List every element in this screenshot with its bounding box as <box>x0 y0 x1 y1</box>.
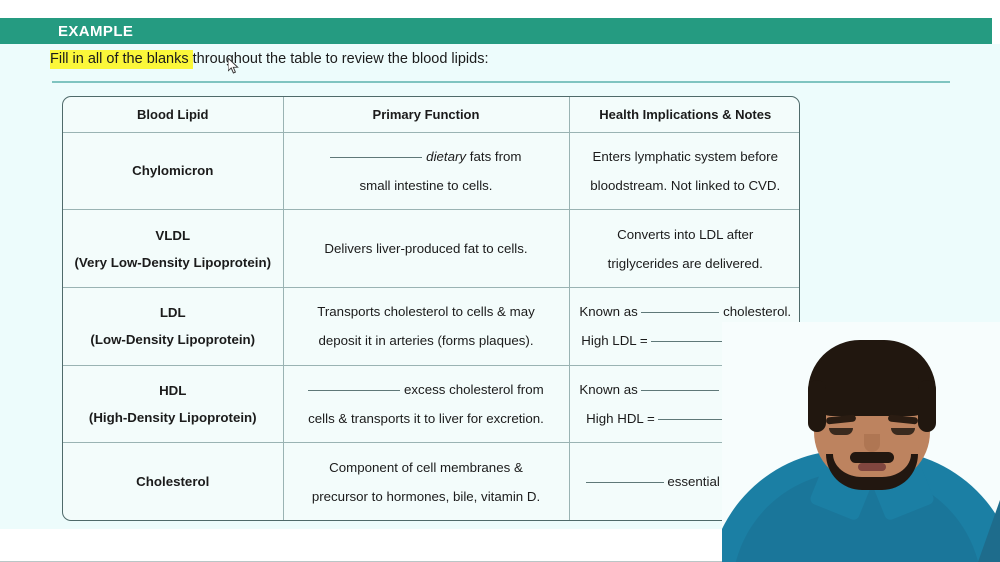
instructor-nose <box>864 434 880 452</box>
blood-lipids-table-wrapper: Blood Lipid Primary Function Health Impl… <box>62 96 800 521</box>
lipid-name: LDL <box>160 305 186 320</box>
cell-lipid-cholesterol: Cholesterol <box>63 443 283 520</box>
table-row: VLDL (Very Low-Density Lipoprotein) Deli… <box>63 210 800 288</box>
cell-lipid-ldl: LDL (Low-Density Lipoprotein) <box>63 287 283 365</box>
table-header-row: Blood Lipid Primary Function Health Impl… <box>63 97 800 132</box>
cell-function-vldl: Delivers liver-produced fat to cells. <box>283 210 569 288</box>
instruction-highlight: Fill in all of the blanks <box>50 50 193 69</box>
notes-line2-pre: High LDL = <box>581 333 651 348</box>
instructor-hair <box>808 340 936 416</box>
blank-field[interactable] <box>651 341 729 342</box>
instructor-video-overlay[interactable] <box>722 322 1000 562</box>
instructor-moustache <box>850 452 894 463</box>
cell-notes-vldl: Converts into LDL after triglycerides ar… <box>569 210 800 288</box>
function-line2: small intestine to cells. <box>359 178 492 193</box>
instructor-eye-left <box>829 428 853 435</box>
instructor-eye-right <box>891 428 915 435</box>
cell-function-cholesterol: Component of cell membranes & precursor … <box>283 443 569 520</box>
blood-lipids-table: Blood Lipid Primary Function Health Impl… <box>63 97 800 520</box>
blank-field[interactable] <box>658 419 724 420</box>
table-row: Cholesterol Component of cell membranes … <box>63 443 800 520</box>
notes-line1: Enters lymphatic system before <box>593 149 779 164</box>
blank-field[interactable] <box>641 312 719 313</box>
function-line2: deposit it in arteries (forms plaques). <box>318 333 533 348</box>
lipid-name: VLDL <box>155 228 190 243</box>
col-header-blood-lipid: Blood Lipid <box>63 97 283 132</box>
cell-notes-chylomicron: Enters lymphatic system before bloodstre… <box>569 132 800 210</box>
notes-line1-pre: Known as <box>579 304 641 319</box>
blank-field[interactable] <box>586 482 664 483</box>
table-row: Chylomicron dietary fats from small inte… <box>63 132 800 210</box>
banner-title: EXAMPLE <box>58 23 133 40</box>
section-divider-rule <box>52 81 950 83</box>
video-frame-edge <box>978 500 1000 562</box>
cell-function-chylomicron: dietary fats from small intestine to cel… <box>283 132 569 210</box>
function-line1-post: excess cholesterol from <box>400 382 543 397</box>
notes-line2: bloodstream. Not linked to CVD. <box>590 178 780 193</box>
function-line1: Delivers liver-produced fat to cells. <box>324 241 527 256</box>
blank-field[interactable] <box>641 390 719 391</box>
col-header-health-implications: Health Implications & Notes <box>569 97 800 132</box>
notes-line2-pre: High HDL = <box>586 411 658 426</box>
cell-lipid-chylomicron: Chylomicron <box>63 132 283 210</box>
function-line2: cells & transports it to liver for excre… <box>308 411 544 426</box>
function-line1-post: fats from <box>466 149 521 164</box>
instructor-mouth <box>858 463 886 471</box>
lipid-name: HDL <box>159 383 186 398</box>
function-line1: Component of cell membranes & <box>329 460 523 475</box>
instructor-hair-left-side <box>808 380 826 432</box>
lipid-name: Cholesterol <box>136 474 209 489</box>
lipid-subtitle: (Low-Density Lipoprotein) <box>90 332 255 347</box>
notes-line1-pre: Known as <box>579 382 641 397</box>
blank-field[interactable] <box>330 157 422 158</box>
function-italic-word: dietary <box>426 149 466 164</box>
example-banner: EXAMPLE <box>0 18 992 44</box>
cell-function-ldl: Transports cholesterol to cells & may de… <box>283 287 569 365</box>
function-line1: Transports cholesterol to cells & may <box>317 304 535 319</box>
function-line2: precursor to hormones, bile, vitamin D. <box>312 489 540 504</box>
slide-root: EXAMPLE Fill in all of the blanks throug… <box>0 0 1000 562</box>
lipid-subtitle: (Very Low-Density Lipoprotein) <box>74 255 271 270</box>
instructor-hair-right-side <box>918 380 936 432</box>
table-row: LDL (Low-Density Lipoprotein) Transports… <box>63 287 800 365</box>
cell-lipid-hdl: HDL (High-Density Lipoprotein) <box>63 365 283 443</box>
col-header-primary-function: Primary Function <box>283 97 569 132</box>
lipid-name: Chylomicron <box>132 163 213 178</box>
notes-line2: triglycerides are delivered. <box>608 256 763 271</box>
instruction-rest: throughout the table to review the blood… <box>193 51 489 67</box>
blank-field[interactable] <box>308 390 400 391</box>
notes-line1: Converts into LDL after <box>617 227 753 242</box>
cell-function-hdl: excess cholesterol from cells & transpor… <box>283 365 569 443</box>
instruction-text: Fill in all of the blanks throughout the… <box>50 49 489 69</box>
lipid-subtitle: (High-Density Lipoprotein) <box>89 410 257 425</box>
notes-line1-post: cholesterol. <box>719 304 791 319</box>
cell-lipid-vldl: VLDL (Very Low-Density Lipoprotein) <box>63 210 283 288</box>
table-row: HDL (High-Density Lipoprotein) excess ch… <box>63 365 800 443</box>
